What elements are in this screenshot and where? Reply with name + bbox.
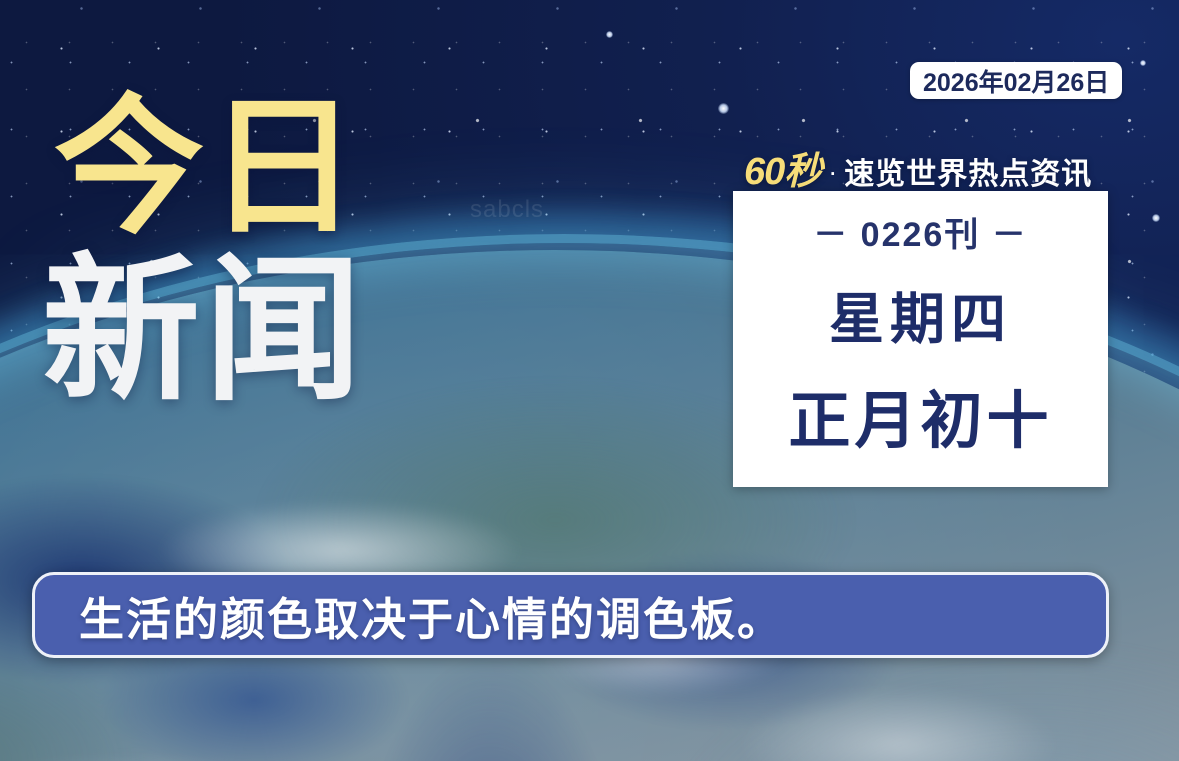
date-info-card: － 0226刊 － 星期四 正月初十 (733, 191, 1108, 487)
tagline: 60秒 · 速览世界热点资讯 (744, 140, 1092, 195)
masthead-line-today: 今日 (54, 96, 484, 240)
card-weekday: 星期四 (829, 274, 1012, 354)
tagline-separator-icon: · (828, 157, 837, 188)
bright-star-icon (1140, 60, 1146, 66)
card-lunar-date: 正月初十 (788, 370, 1052, 460)
masthead: 今日 新闻 (54, 96, 484, 408)
masthead-line-news: 新闻 (42, 256, 484, 408)
date-badge-label: 2026年02月26日 (923, 63, 1109, 99)
card-issue-number: － 0226刊 － (813, 207, 1028, 256)
bright-star-icon (1152, 214, 1160, 222)
news-poster: sabcls 今日 新闻 2026年02月26日 60秒 · 速览世界热点资讯 … (0, 0, 1179, 761)
bright-star-icon (718, 103, 729, 114)
tagline-seconds: 60秒 (744, 140, 821, 195)
quote-text: 生活的颜色取决于心情的调色板。 (79, 583, 784, 648)
tagline-text: 速览世界热点资讯 (844, 149, 1092, 193)
bright-star-icon (606, 31, 613, 38)
date-badge: 2026年02月26日 (910, 62, 1122, 99)
quote-banner: 生活的颜色取决于心情的调色板。 (32, 572, 1109, 658)
